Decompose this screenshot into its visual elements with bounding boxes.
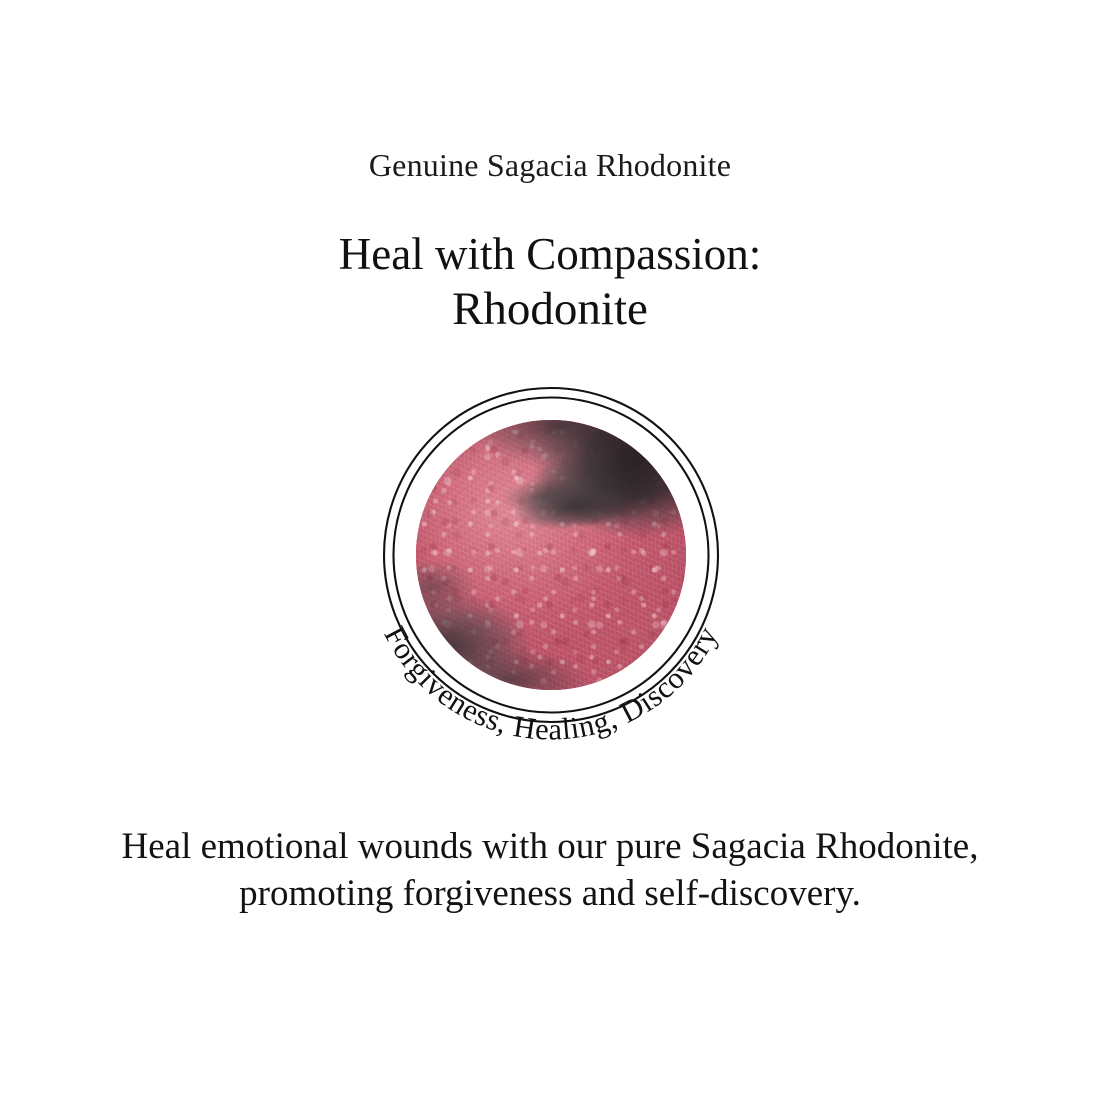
product-description: Heal emotional wounds with our pure Saga… (50, 824, 1050, 918)
brand-eyebrow: Genuine Sagacia Rhodonite (0, 148, 1100, 183)
product-card: Genuine Sagacia Rhodonite Heal with Comp… (0, 0, 1100, 1100)
description-line-2: promoting forgiveness and self-discovery… (50, 871, 1050, 918)
seal-curved-caption: Forgiveness, Healing, Discovery (377, 621, 724, 747)
seal-curved-caption-text: Forgiveness, Healing, Discovery (377, 621, 724, 747)
description-line-1: Heal emotional wounds with our pure Saga… (50, 824, 1050, 871)
headline-line-1: Heal with Compassion: (0, 228, 1100, 281)
inner-ring (394, 398, 709, 713)
seal-rings-and-text: Forgiveness, Healing, Discovery (321, 325, 781, 785)
page-title: Heal with Compassion: Rhodonite (0, 228, 1100, 337)
